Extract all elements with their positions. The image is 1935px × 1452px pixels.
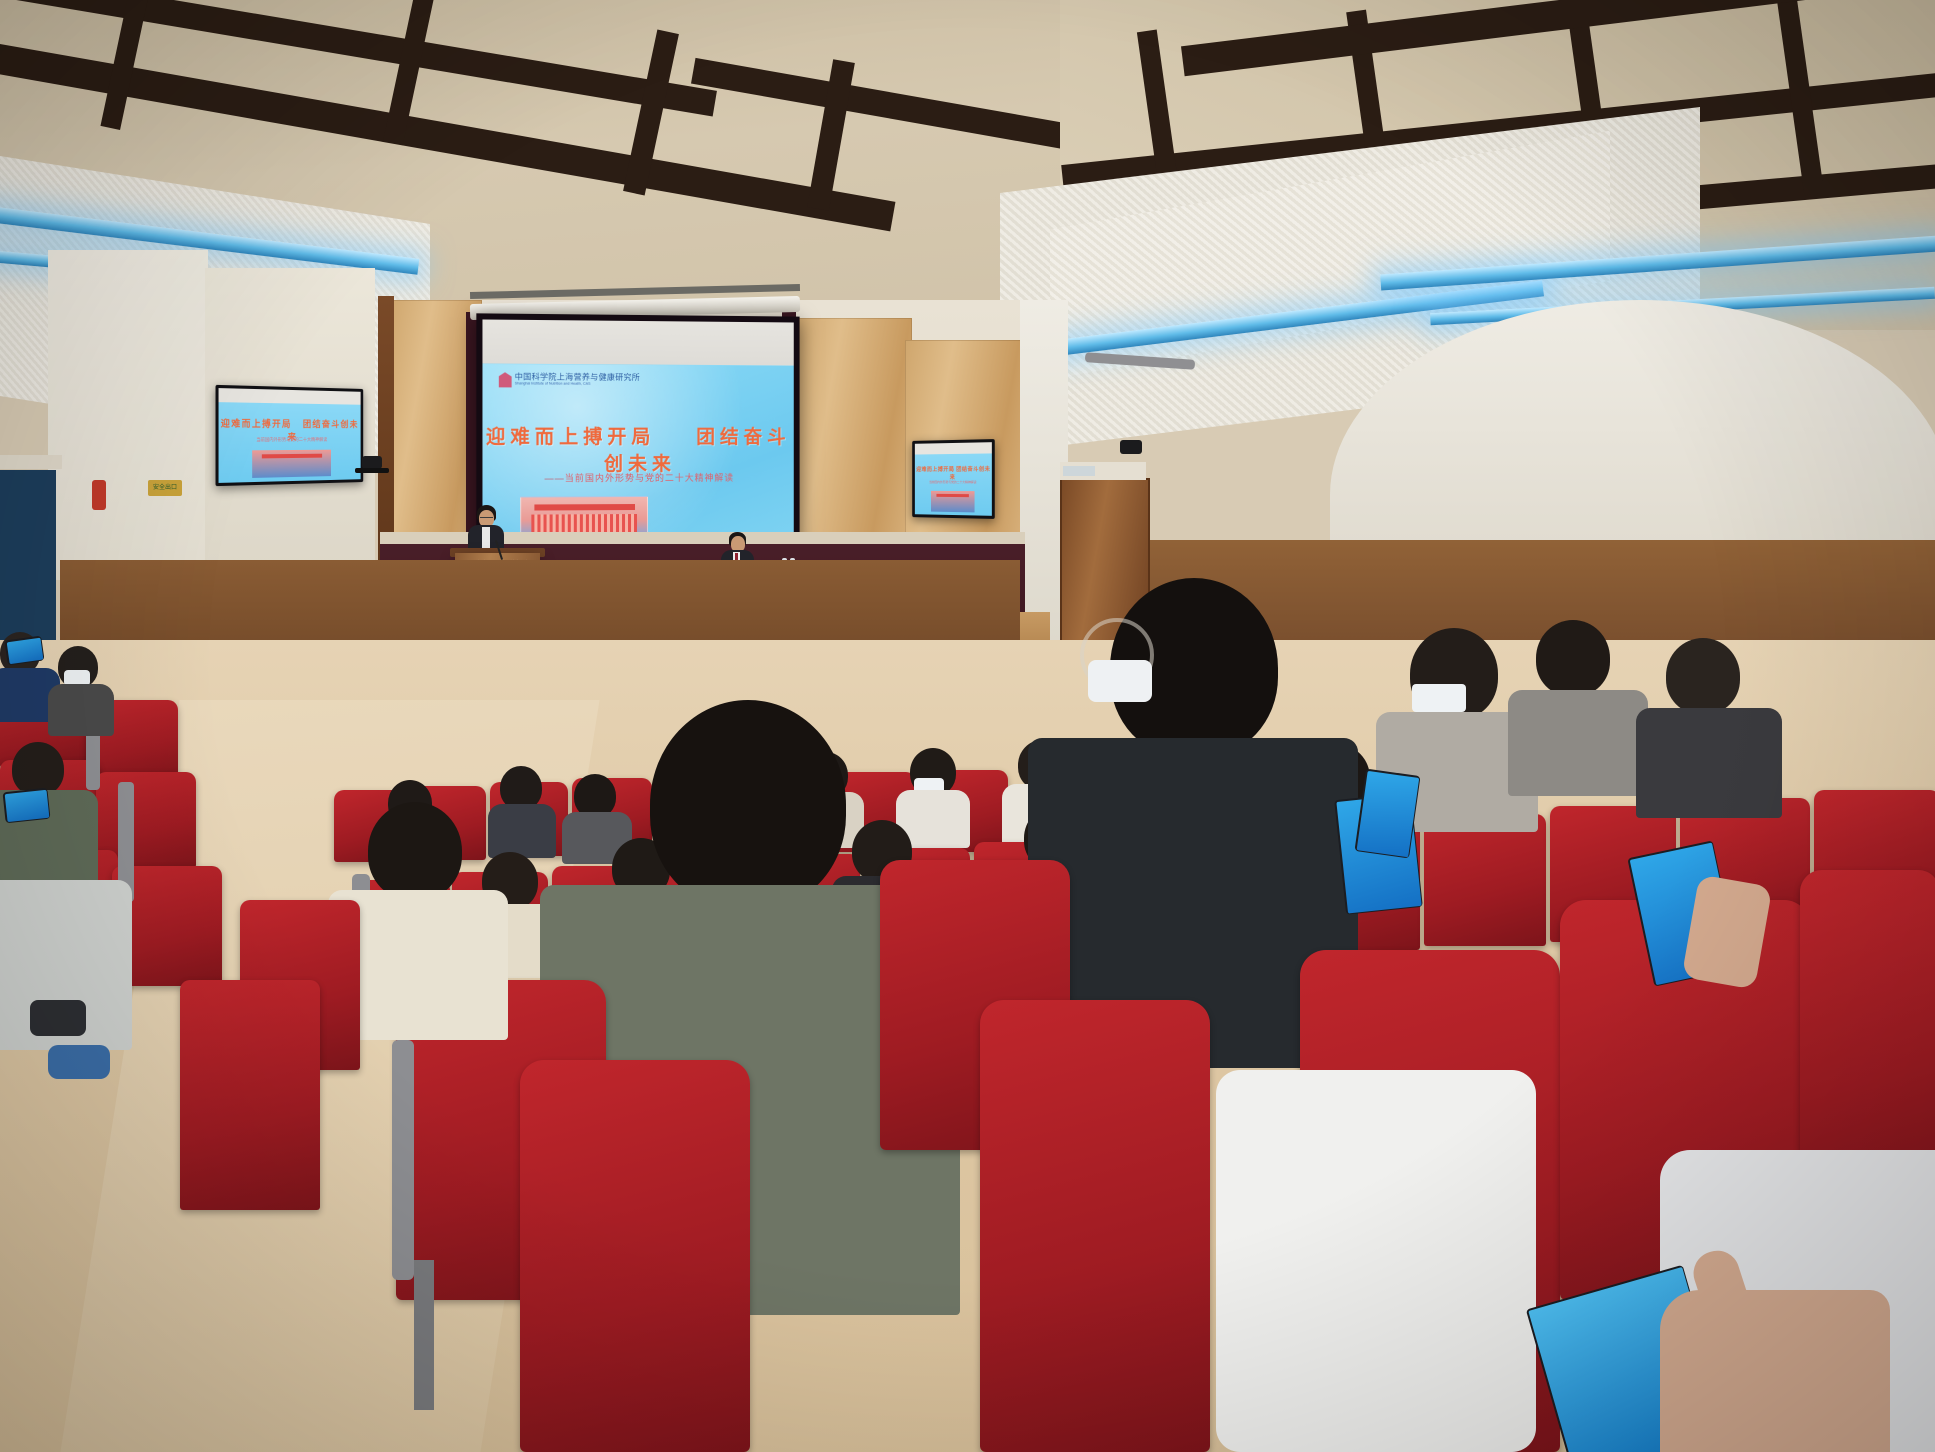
slide-org-logo: 中国科学院上海营养与健康研究所 Shanghai Institute of Nu… [498,372,640,388]
speaker-shirt [482,527,490,549]
attendee-head [1536,620,1610,696]
slide-title-line-1: 迎难而上搏开局 [486,427,655,448]
attendee-shoe [30,1000,86,1036]
attendee-body [1508,690,1648,796]
attendee [342,802,492,1022]
camera-bracket [355,468,389,473]
seat[interactable] [1424,814,1546,946]
side-display-left-photo [252,450,331,479]
seat[interactable] [180,980,320,1210]
slide-org-name-en: Shanghai Institute of Nutrition and Heal… [515,382,640,386]
attendee-head [650,700,846,910]
slide-subtitle-dash: —— [545,473,565,483]
side-display-right-photo [931,490,974,512]
side-right-title-2: 团结奋斗创未来 [950,466,991,480]
speaker-glasses-icon [480,517,493,521]
wall-left [48,250,208,580]
seat[interactable] [980,1000,1210,1452]
attendee-head [1666,638,1740,714]
side-display-left: 迎难而上搏开局 团结奋斗创未来 当前国内外形势与党的二十大精神解读 [216,385,364,486]
fire-extinguisher [92,480,106,510]
attendee [492,766,550,844]
door-sign-right [1063,466,1095,476]
attendee-shoe [48,1045,110,1079]
tote-bag [1216,1070,1536,1452]
hand [1660,1290,1890,1452]
slide-photo-banner [534,504,634,510]
attendee-head [368,802,462,900]
projector-icon [1120,440,1142,454]
side-display-right: 迎难而上搏开局 团结奋斗创未来 当前国内外形势与党的二十大精神解读 [912,439,995,519]
seat-leg [414,1260,434,1410]
face-mask [1412,684,1466,712]
seat-armrest [392,1040,414,1280]
seat[interactable] [520,1060,750,1452]
attendee [52,646,108,726]
side-display-left-subtitle: 当前国内外形势与党的二十大精神解读 [219,437,361,443]
slide-subtitle: 当前国内外形势与党的二十大精神解读 [565,473,734,483]
institute-logo-icon [498,372,511,387]
smartphone[interactable] [4,636,44,666]
slide-subtitle-row: ——当前国内外形势与党的二十大精神解读 [482,470,793,484]
side-display-right-subtitle: 当前国内外形势与党的二十大精神解读 [915,480,992,484]
smartphone[interactable] [3,788,51,824]
attendee-body [1636,708,1782,818]
exit-sign-label: 安全出口 [150,483,180,493]
lecture-hall-photo: 中国科学院上海营养与健康研究所 Shanghai Institute of Nu… [0,0,1935,1452]
attendee-body [48,684,114,736]
side-left-title-1: 迎难而上搏开局 [221,419,292,430]
doorway-left-header [0,455,62,469]
smartphone[interactable] [1354,769,1420,859]
attendee-body [488,804,556,858]
side-right-title-1: 迎难而上搏开局 [916,467,954,473]
face-mask [1088,660,1152,702]
attendee [1520,620,1630,770]
side-display-right-title: 迎难而上搏开局 团结奋斗创未来 [915,464,992,480]
slide-title: 迎难而上搏开局 团结奋斗创未来 [482,422,793,477]
attendee [1650,638,1760,788]
